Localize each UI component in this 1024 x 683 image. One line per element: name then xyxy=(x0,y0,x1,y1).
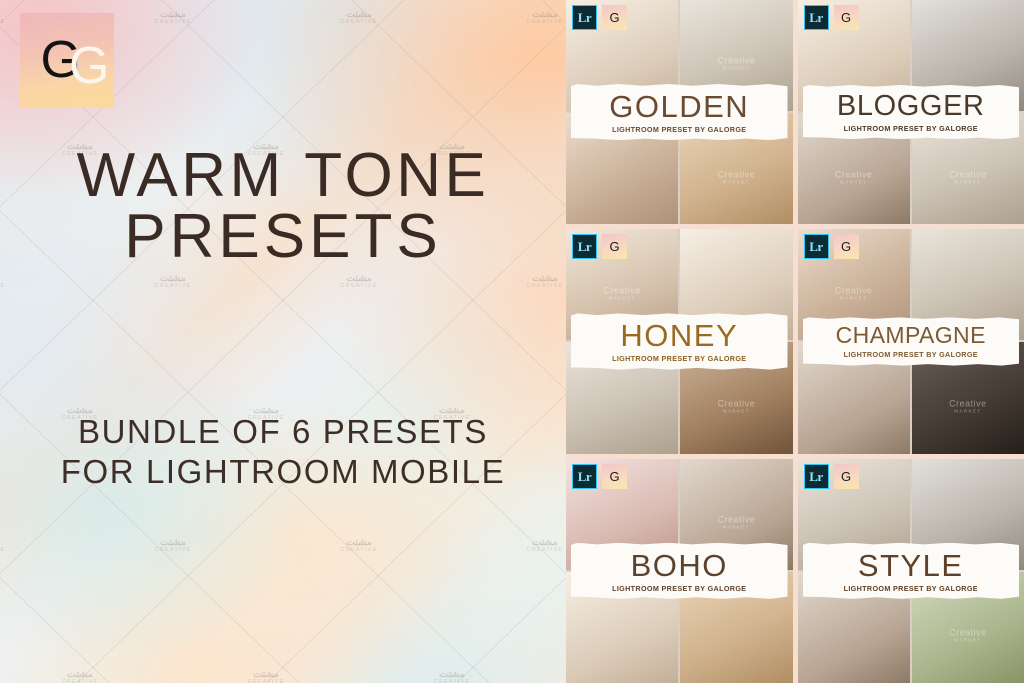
watermark-stamp-top: مشتت xyxy=(518,274,566,284)
watermark-stamp: مشتتCREATIVE xyxy=(0,274,14,290)
watermark-stamp: مشتتCREATIVE xyxy=(518,274,566,290)
photo-watermark: CreativeMARKET xyxy=(603,286,641,301)
watermark-stamp: مشتتCREATIVE xyxy=(425,670,479,683)
photo-watermark: CreativeMARKET xyxy=(835,286,873,301)
watermark-stamp-top: مشتت xyxy=(332,10,386,20)
watermark-stamp: مشتتCREATIVE xyxy=(146,274,200,290)
watermark-stamp: مشتتCREATIVE xyxy=(0,538,14,554)
preset-badges: Lr G xyxy=(572,234,627,259)
photo-watermark: CreativeMARKET xyxy=(949,170,987,185)
watermark-stamp-top: مشتت xyxy=(425,670,479,680)
watermark-stamp-top: مشتت xyxy=(332,274,386,284)
watermark-stamp-top: مشتت xyxy=(239,670,293,680)
preset-byline: LIGHTROOM PRESET BY GALORGE xyxy=(575,355,784,362)
hero-panel: مشتتCREATIVEمشتتCREATIVEمشتتCREATIVEمشتت… xyxy=(0,0,566,683)
preset-name: GOLDEN xyxy=(575,91,784,122)
watermark-stamp: مشتتCREATIVE xyxy=(518,538,566,554)
preset-badges: Lr G xyxy=(572,5,627,30)
watermark-stamp: مشتتCREATIVE xyxy=(332,538,386,554)
preset-badges: Lr G xyxy=(572,464,627,489)
watermark-stamp-bottom: CREATIVE xyxy=(0,548,14,554)
preset-card-golden[interactable]: CreativeMARKET CreativeMARKET Lr G GOLDE… xyxy=(566,0,793,224)
watermark-stamp-bottom: CREATIVE xyxy=(146,20,200,26)
preset-badges: Lr G xyxy=(804,464,859,489)
preset-title-banner: GOLDEN LIGHTROOM PRESET BY GALORGE xyxy=(571,84,788,140)
page-subtitle-line-1: BUNDLE OF 6 PRESETS xyxy=(0,412,566,452)
photo-watermark: CreativeMARKET xyxy=(718,516,756,531)
watermark-stamp-bottom: CREATIVE xyxy=(518,548,566,554)
preset-name: BLOGGER xyxy=(807,92,1016,121)
preset-byline: LIGHTROOM PRESET BY GALORGE xyxy=(807,351,1016,358)
brand-logo-glyph: GG xyxy=(41,34,94,86)
watermark-stamp: مشتتCREATIVE xyxy=(239,670,293,683)
watermark-stamp-top: مشتت xyxy=(146,274,200,284)
photo-watermark-sub: MARKET xyxy=(949,409,987,414)
photo-watermark-sub: MARKET xyxy=(718,526,756,531)
page-subtitle: BUNDLE OF 6 PRESETS FOR LIGHTROOM MOBILE xyxy=(0,412,566,493)
preset-bundle-poster: مشتتCREATIVEمشتتCREATIVEمشتتCREATIVEمشتت… xyxy=(0,0,1024,683)
preset-card-style[interactable]: CreativeMARKET Lr G STYLE LIGHTROOM PRES… xyxy=(798,459,1024,683)
brand-logo-letter: G xyxy=(41,31,67,89)
watermark-stamp-top: مشتت xyxy=(0,274,14,284)
watermark-stamp-top: مشتت xyxy=(146,538,200,548)
preset-name: HONEY xyxy=(575,320,784,351)
watermark-stamp-bottom: CREATIVE xyxy=(146,548,200,554)
photo-watermark: CreativeMARKET xyxy=(718,57,756,72)
lightroom-icon: Lr xyxy=(572,5,597,30)
photo-watermark-sub: MARKET xyxy=(718,180,756,185)
photo-watermark-sub: MARKET xyxy=(949,639,987,644)
watermark-stamp: مشتتCREATIVE xyxy=(146,538,200,554)
photo-watermark-sub: MARKET xyxy=(835,180,873,185)
preset-card-blogger[interactable]: CreativeMARKET CreativeMARKET Lr G BLOGG… xyxy=(798,0,1024,224)
watermark-stamp-top: مشتت xyxy=(518,538,566,548)
photo-watermark-sub: MARKET xyxy=(718,67,756,72)
watermark-stamp-bottom: CREATIVE xyxy=(332,548,386,554)
watermark-stamp-bottom: CREATIVE xyxy=(146,284,200,290)
page-title: WARM TONE PRESETS xyxy=(0,146,566,268)
preset-byline: LIGHTROOM PRESET BY GALORGE xyxy=(575,126,784,133)
galorge-logo-icon: G xyxy=(834,464,859,489)
photo-watermark: CreativeMARKET xyxy=(718,170,756,185)
galorge-logo-icon: G xyxy=(602,5,627,30)
watermark-stamp-top: مشتت xyxy=(0,538,14,548)
watermark-stamp-bottom: CREATIVE xyxy=(332,20,386,26)
preset-badges: Lr G xyxy=(804,5,859,30)
preset-byline: LIGHTROOM PRESET BY GALORGE xyxy=(575,585,784,592)
lightroom-icon: Lr xyxy=(572,234,597,259)
watermark-stamp-bottom: CREATIVE xyxy=(518,20,566,26)
lightroom-icon: Lr xyxy=(804,234,829,259)
photo-watermark-sub: MARKET xyxy=(603,296,641,301)
watermark-stamp-top: مشتت xyxy=(332,538,386,548)
watermark-stamp: مشتتCREATIVE xyxy=(0,10,14,26)
watermark-stamp-bottom: CREATIVE xyxy=(0,284,14,290)
watermark-stamp: مشتتCREATIVE xyxy=(146,10,200,26)
galorge-logo-icon: G xyxy=(602,464,627,489)
preset-title-banner: BOHO LIGHTROOM PRESET BY GALORGE xyxy=(571,543,788,599)
page-title-line-2: PRESETS xyxy=(0,207,566,268)
photo-watermark: CreativeMARKET xyxy=(949,400,987,415)
watermark-stamp-top: مشتت xyxy=(53,670,107,680)
lightroom-icon: Lr xyxy=(804,464,829,489)
watermark-stamp: مشتتCREATIVE xyxy=(332,274,386,290)
watermark-stamp-bottom: CREATIVE xyxy=(332,284,386,290)
preset-card-honey[interactable]: CreativeMARKET CreativeMARKET Lr G HONEY… xyxy=(566,229,793,453)
preset-title-banner: CHAMPAGNE LIGHTROOM PRESET BY GALORGE xyxy=(803,317,1020,365)
preset-name: BOHO xyxy=(575,550,784,581)
preset-name: STYLE xyxy=(807,550,1016,581)
page-title-line-1: WARM TONE xyxy=(0,146,566,207)
preset-title-banner: HONEY LIGHTROOM PRESET BY GALORGE xyxy=(571,313,788,369)
brand-logo-shadow-letter: G xyxy=(69,37,95,95)
photo-watermark-sub: MARKET xyxy=(835,296,873,301)
galorge-logo-icon: G xyxy=(834,5,859,30)
watermark-stamp-top: مشتت xyxy=(0,10,14,20)
lightroom-icon: Lr xyxy=(804,5,829,30)
preset-title-banner: STYLE LIGHTROOM PRESET BY GALORGE xyxy=(803,543,1020,599)
preset-name: CHAMPAGNE xyxy=(807,324,1016,347)
watermark-stamp: مشتتCREATIVE xyxy=(518,10,566,26)
preset-card-champagne[interactable]: CreativeMARKET CreativeMARKET Lr G CHAMP… xyxy=(798,229,1024,453)
page-subtitle-line-2: FOR LIGHTROOM MOBILE xyxy=(0,452,566,492)
photo-watermark: CreativeMARKET xyxy=(835,170,873,185)
watermark-stamp: مشتتCREATIVE xyxy=(332,10,386,26)
preset-card-boho[interactable]: CreativeMARKET Lr G BOHO LIGHTROOM PRESE… xyxy=(566,459,793,683)
preset-badges: Lr G xyxy=(804,234,859,259)
preset-title-banner: BLOGGER LIGHTROOM PRESET BY GALORGE xyxy=(803,85,1020,139)
watermark-stamp-top: مشتت xyxy=(146,10,200,20)
photo-watermark: CreativeMARKET xyxy=(949,629,987,644)
photo-watermark-sub: MARKET xyxy=(718,409,756,414)
galorge-logo-icon: G xyxy=(602,234,627,259)
photo-watermark: CreativeMARKET xyxy=(718,400,756,415)
watermark-stamp-top: مشتت xyxy=(518,10,566,20)
galorge-logo-icon: G xyxy=(834,234,859,259)
photo-watermark-sub: MARKET xyxy=(949,180,987,185)
brand-logo: GG xyxy=(20,13,114,107)
preset-preview-grid: CreativeMARKET CreativeMARKET Lr G GOLDE… xyxy=(566,0,1024,683)
lightroom-icon: Lr xyxy=(572,464,597,489)
preset-byline: LIGHTROOM PRESET BY GALORGE xyxy=(807,585,1016,592)
watermark-stamp-bottom: CREATIVE xyxy=(0,20,14,26)
preset-byline: LIGHTROOM PRESET BY GALORGE xyxy=(807,125,1016,132)
watermark-stamp-bottom: CREATIVE xyxy=(518,284,566,290)
watermark-stamp: مشتتCREATIVE xyxy=(53,670,107,683)
